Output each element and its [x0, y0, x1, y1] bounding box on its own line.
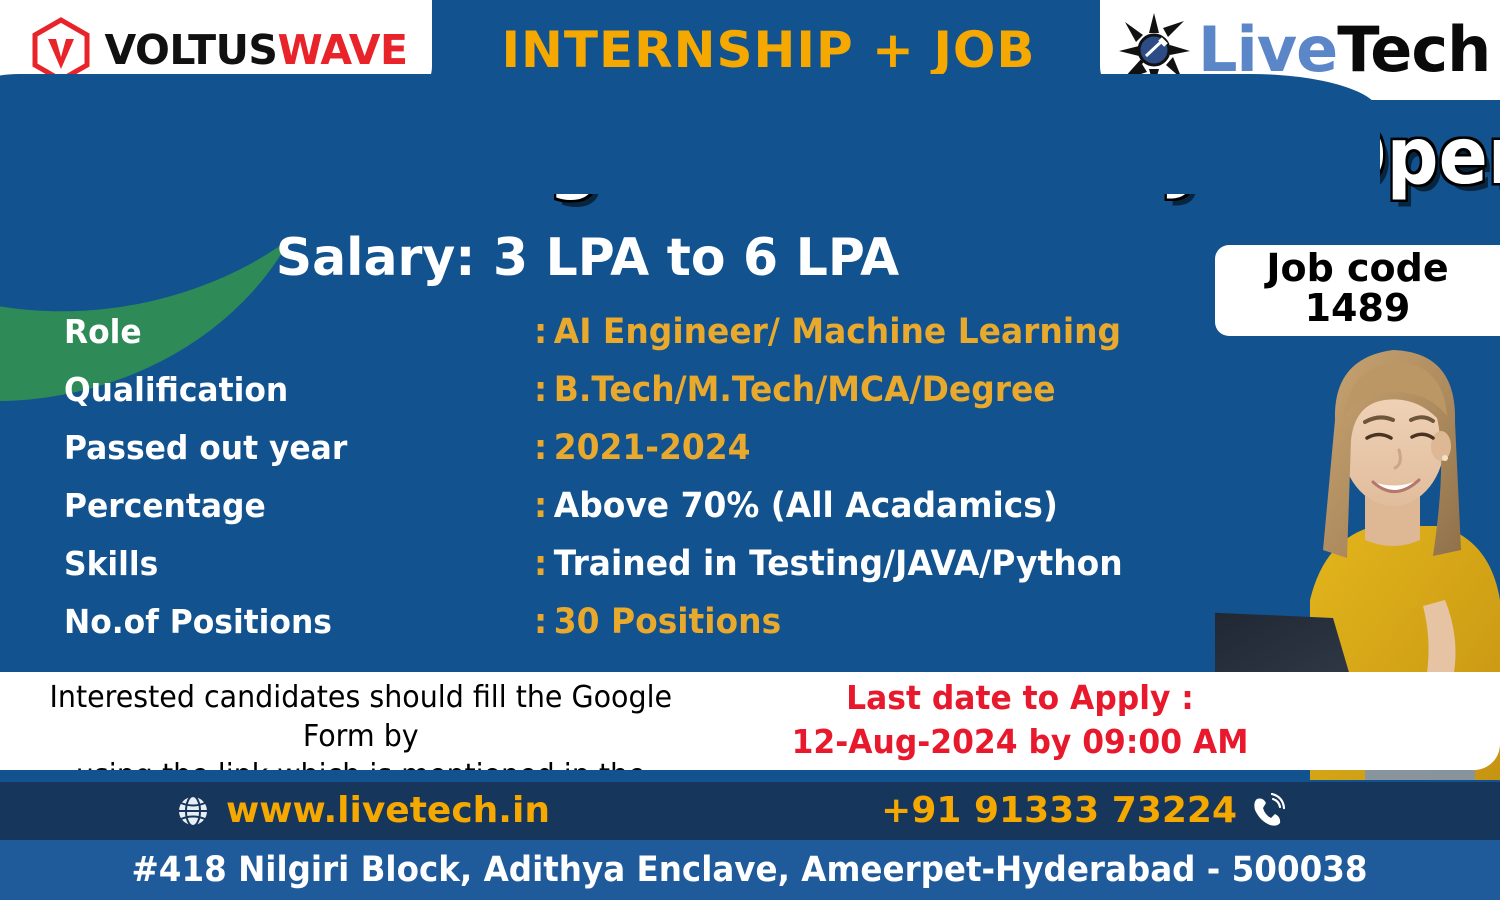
band-bottom-curve [0, 74, 1380, 194]
detail-value-text: 2021-2024 [554, 428, 751, 468]
deadline-value: 12-Aug-2024 by 09:00 AM [773, 720, 1267, 764]
detail-colon: : [534, 370, 547, 410]
job-code-label: Job code [1225, 249, 1490, 289]
globe-icon [175, 793, 211, 829]
detail-colon: : [534, 312, 547, 352]
salary-text: Salary: 3 LPA to 6 LPA [18, 232, 1158, 284]
contact-bar: www.livetech.in +91 91333 73224 [0, 782, 1500, 840]
livetech-name-part2: Tech [1337, 13, 1490, 86]
detail-row-passed-out-year: Passed out year :2021-2024 [64, 428, 1244, 486]
detail-value-text: B.Tech/M.Tech/MCA/Degree [554, 370, 1056, 410]
address-text: #418 Nilgiri Block, Adithya Enclave, Ame… [132, 853, 1368, 888]
detail-colon: : [534, 602, 547, 642]
detail-colon: : [534, 486, 547, 526]
website-text: www.livetech.in [226, 793, 550, 829]
detail-value: :AI Engineer/ Machine Learning [534, 312, 1121, 352]
detail-value-text: 30 Positions [554, 602, 781, 642]
detail-value: :B.Tech/M.Tech/MCA/Degree [534, 370, 1056, 410]
detail-value: :Above 70% (All Acadamics) [534, 486, 1058, 526]
job-poster: VOLTUSWAVE INTERNSHIP + JOB [0, 0, 1500, 900]
phone-ringing-icon [1249, 793, 1285, 829]
detail-value: :Trained in Testing/JAVA/Python [534, 544, 1123, 584]
banner-label: INTERNSHIP + JOB [501, 21, 1035, 79]
job-code-badge: Job code 1489 [1215, 245, 1500, 336]
detail-colon: : [534, 544, 547, 584]
instruction-line-2: using the link which is mentioned in the… [14, 756, 708, 770]
detail-value: :30 Positions [534, 602, 781, 642]
detail-row-skills: Skills :Trained in Testing/JAVA/Python [64, 544, 1244, 602]
detail-label: No.of Positions [64, 602, 511, 641]
detail-label: Qualification [64, 370, 511, 409]
detail-label: Passed out year [64, 428, 511, 467]
detail-value-text: Above 70% (All Acadamics) [554, 486, 1058, 526]
detail-label: Role [64, 312, 511, 351]
application-info-band: Interested candidates should fill the Go… [0, 672, 1500, 770]
detail-value-text: Trained in Testing/JAVA/Python [554, 544, 1123, 584]
voltuswave-name-part2: WAVE [277, 26, 407, 74]
instruction-line-1: Interested candidates should fill the Go… [14, 678, 708, 756]
phone-contact[interactable]: +91 91333 73224 [881, 782, 1285, 840]
detail-row-role: Role :AI Engineer/ Machine Learning [64, 312, 1244, 370]
application-instruction: Interested candidates should fill the Go… [14, 678, 708, 770]
detail-value-text: AI Engineer/ Machine Learning [554, 312, 1121, 352]
voltuswave-name-part1: VOLTUS [104, 26, 277, 74]
website-link[interactable]: www.livetech.in [175, 782, 550, 840]
detail-row-positions: No.of Positions :30 Positions [64, 602, 1244, 660]
address-bar: #418 Nilgiri Block, Adithya Enclave, Ame… [0, 840, 1500, 900]
detail-row-percentage: Percentage :Above 70% (All Acadamics) [64, 486, 1244, 544]
phone-text: +91 91333 73224 [881, 793, 1237, 829]
detail-label: Skills [64, 544, 511, 583]
detail-label: Percentage [64, 486, 511, 525]
detail-colon: : [534, 428, 547, 468]
detail-value: :2021-2024 [534, 428, 751, 468]
deadline-notice: Last date to Apply : 12-Aug-2024 by 09:0… [773, 676, 1267, 763]
deadline-label: Last date to Apply : [773, 676, 1267, 720]
detail-row-qualification: Qualification :B.Tech/M.Tech/MCA/Degree [64, 370, 1244, 428]
job-details-list: Role :AI Engineer/ Machine Learning Qual… [64, 312, 1244, 660]
job-code-value: 1489 [1225, 289, 1490, 329]
